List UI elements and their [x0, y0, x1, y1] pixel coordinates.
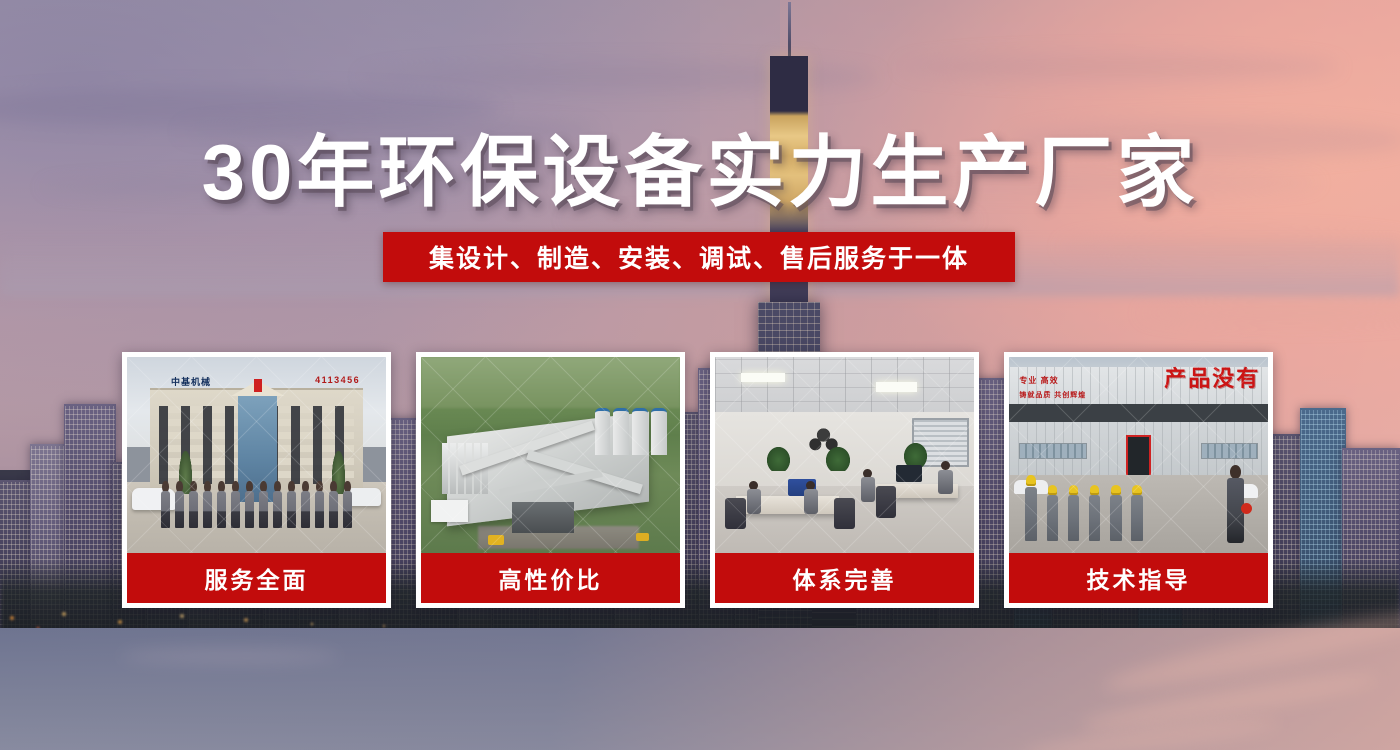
- subtitle-banner: 集设计、制造、安装、调试、售后服务于一体: [383, 232, 1015, 282]
- feature-card[interactable]: 高性价比: [416, 352, 685, 608]
- feature-card[interactable]: 产品没有 专业 高效 铸就品质 共创辉煌: [1004, 352, 1273, 608]
- page-title: 30年环保设备实力生产厂家: [0, 132, 1400, 214]
- card-caption: 高性价比: [421, 553, 680, 603]
- feature-card[interactable]: 中基机械 4113456 服务全面: [122, 352, 391, 608]
- feature-card-row: 中基机械 4113456 服务全面: [122, 352, 1279, 608]
- building-phone-text: 4113456: [315, 375, 360, 385]
- water-reflection: [120, 648, 340, 664]
- promotional-banner: 30年环保设备实力生产厂家 集设计、制造、安装、调试、售后服务于一体 中基机械 …: [0, 0, 1400, 750]
- feature-card[interactable]: 体系完善: [710, 352, 979, 608]
- worker-lineup: [1025, 475, 1144, 542]
- card-caption: 技术指导: [1009, 553, 1268, 603]
- staff-lineup: [161, 481, 353, 528]
- factory-door: [1126, 435, 1152, 478]
- office-interior-photo: [715, 357, 974, 553]
- card-caption: 体系完善: [715, 553, 974, 603]
- aerial-industrial-plant-photo: [421, 357, 680, 553]
- subtitle-text: 集设计、制造、安装、调试、售后服务于一体: [429, 239, 969, 275]
- building-sign-text: 中基机械: [171, 375, 211, 388]
- company-headquarters-building-photo: 中基机械 4113456: [127, 357, 386, 553]
- factory-wall-slogan-2: 铸就品质 共创辉煌: [1019, 390, 1086, 400]
- workers-at-factory-photo: 产品没有 专业 高效 铸就品质 共创辉煌: [1009, 357, 1268, 553]
- card-caption: 服务全面: [127, 553, 386, 603]
- cloud: [900, 52, 1340, 82]
- factory-wall-slogan-large: 产品没有: [1164, 361, 1260, 393]
- tower-spire: [788, 2, 791, 64]
- factory-wall-slogan-1: 专业 高效: [1019, 375, 1058, 386]
